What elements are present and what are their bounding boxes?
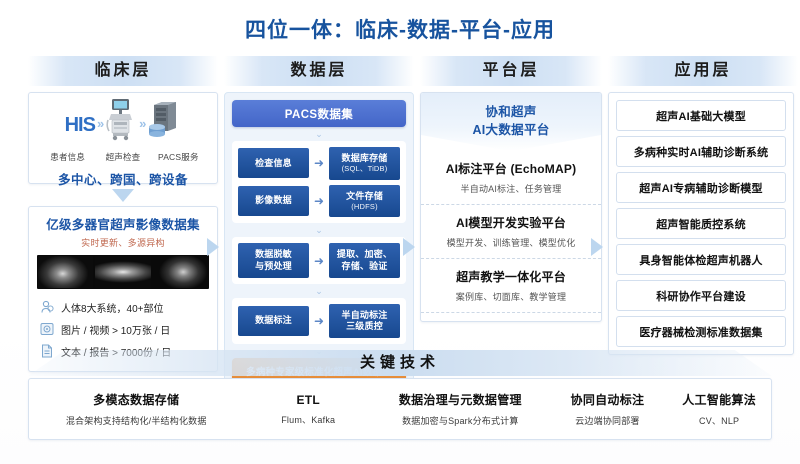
column-header-application: 应用层: [608, 56, 798, 86]
key-tech-title: ETL: [247, 393, 369, 407]
app-item-robot[interactable]: 具身智能体检超声机器人: [616, 244, 786, 275]
platform-header-line2: AI大数据平台: [425, 121, 597, 139]
platform-item-sub: 模型开发、训练管理、模型优化: [425, 236, 597, 249]
key-tech-card: 多模态数据存储 混合架构支持结构化/半结构化数据 ETL Flum、Kafka …: [28, 378, 772, 440]
arrow-data-to-platform-icon: [403, 238, 415, 256]
column-header-platform: 平台层: [420, 56, 602, 86]
app-item-quality-control[interactable]: 超声智能质控系统: [616, 208, 786, 239]
key-tech-title: 人工智能算法: [671, 391, 767, 408]
pacs-server-icon: [145, 99, 181, 146]
column-headers: 临床层 数据层 平台层 应用层: [28, 56, 772, 86]
chevron-right-icon-2: »: [139, 102, 143, 146]
platform-header-line1: 协和超声: [425, 103, 597, 121]
app-item-foundation-model[interactable]: 超声AI基础大模型: [616, 100, 786, 131]
key-tech-item-governance: 数据治理与元数据管理 数据加密与Spark分布式计算: [373, 391, 548, 427]
dataset-stat-row: 人体8大系统，40+部位: [37, 296, 209, 318]
chevron-down-icon: ⌄: [232, 284, 406, 298]
data-pair-row: 数据脱敏与预处理 ➜ 提取、加密、存储、验证: [238, 243, 400, 278]
data-pair-row: 影像数据 ➜ 文件存储 (HDFS): [238, 185, 400, 218]
clinical-flow: HIS »: [37, 102, 209, 146]
platform-item-title: 超声教学一体化平台: [425, 268, 597, 285]
page-title: 四位一体：临床-数据-平台-应用: [0, 14, 800, 44]
key-tech-sub: 云边端协同部署: [552, 414, 664, 427]
arrow-right-icon: ➜: [314, 195, 324, 207]
his-logo: HIS: [65, 104, 95, 146]
key-tech-item-annotation: 协同自动标注 云边端协同部署: [548, 391, 668, 427]
platform-card: 协和超声 AI大数据平台 AI标注平台 (EchoMAP) 半自动AI标注、任务…: [420, 92, 602, 322]
pacs-dataset-header: PACS数据集: [232, 100, 406, 127]
infographic-page: 四位一体：临床-数据-平台-应用 临床层 数据层 平台层 应用层 HIS »: [0, 0, 800, 464]
flow-label-exam: 超声检查: [95, 151, 150, 163]
column-header-data: 数据层: [224, 56, 414, 86]
key-tech-item-storage: 多模态数据存储 混合架构支持结构化/半结构化数据: [29, 391, 243, 427]
ultrasound-image-3: [153, 256, 208, 288]
person-icon: [39, 300, 54, 315]
key-tech-title: 数据治理与元数据管理: [377, 391, 544, 408]
ultrasound-image-1: [38, 256, 93, 288]
chevron-right-icon: »: [97, 102, 101, 146]
document-icon: [39, 344, 54, 359]
data-pair-row: 检查信息 ➜ 数据库存储 (SQL、TiDB): [238, 147, 400, 180]
app-item-specialty-diagnosis[interactable]: 超声AI专病辅助诊断模型: [616, 172, 786, 203]
platform-item-sub: 案例库、切面库、教学管理: [425, 290, 597, 303]
ultrasound-image-2: [95, 256, 150, 288]
box-file-storage: 文件存储 (HDFS): [329, 185, 400, 218]
key-tech-banner: 关键技术: [28, 350, 772, 376]
chevron-down-icon: ⌄: [232, 223, 406, 237]
box-data-annotation: 数据标注: [238, 306, 309, 336]
data-group-annotation: 数据标注 ➜ 半自动标注三级质控: [232, 298, 406, 345]
key-tech-title: 协同自动标注: [552, 391, 664, 408]
platform-item-sub: 半自动AI标注、任务管理: [425, 182, 597, 195]
application-card: 超声AI基础大模型 多病种实时AI辅助诊断系统 超声AI专病辅助诊断模型 超声智…: [608, 92, 794, 355]
box-database-storage: 数据库存储 (SQL、TiDB): [329, 147, 400, 180]
column-header-clinical: 临床层: [28, 56, 218, 86]
clinical-column: HIS »: [28, 92, 218, 372]
clinical-highlight: 多中心、跨国、跨设备: [37, 163, 209, 188]
flow-label-patient: 患者信息: [40, 151, 95, 163]
box-extract-encrypt: 提取、加密、存储、验证: [329, 243, 400, 278]
data-group-preprocess: 数据脱敏与预处理 ➜ 提取、加密、存储、验证: [232, 237, 406, 284]
box-desensitization: 数据脱敏与预处理: [238, 243, 309, 278]
arrow-right-icon: ➜: [314, 157, 324, 169]
key-tech-sub: 数据加密与Spark分布式计算: [377, 414, 544, 427]
application-column: 超声AI基础大模型 多病种实时AI辅助诊断系统 超声AI专病辅助诊断模型 超声智…: [608, 92, 794, 355]
platform-item-model-dev[interactable]: AI模型开发实验平台 模型开发、训练管理、模型优化: [421, 205, 601, 259]
chevron-down-icon: ⌄: [232, 127, 406, 141]
clinical-flow-labels: 患者信息 超声检查 PACS服务: [37, 146, 209, 163]
platform-item-title: AI标注平台 (EchoMAP): [425, 160, 597, 177]
stat-text-systems: 人体8大系统，40+部位: [61, 300, 164, 315]
data-column: PACS数据集 ⌄ 检查信息 ➜ 数据库存储 (SQL、TiDB) 影像数据: [224, 92, 414, 393]
app-item-realtime-diagnosis[interactable]: 多病种实时AI辅助诊断系统: [616, 136, 786, 167]
key-tech-sub: CV、NLP: [671, 414, 767, 427]
box-image-data: 影像数据: [238, 186, 309, 216]
key-tech-item-ai-algorithm: 人工智能算法 CV、NLP: [667, 391, 771, 427]
ultrasound-machine-icon: [103, 97, 137, 146]
platform-header: 协和超声 AI大数据平台: [421, 93, 601, 151]
ultrasound-image-strip: [37, 255, 209, 289]
key-tech-title: 多模态数据存储: [33, 391, 239, 408]
platform-item-echomap[interactable]: AI标注平台 (EchoMAP) 半自动AI标注、任务管理: [421, 151, 601, 205]
stat-text-images: 图片 / 视频 > 10万张 / 日: [61, 322, 170, 337]
key-tech-sub: Flum、Kafka: [247, 413, 369, 426]
arrow-right-icon: ➜: [314, 315, 324, 327]
platform-item-teaching[interactable]: 超声教学一体化平台 案例库、切面库、教学管理: [421, 259, 601, 313]
data-pair-row: 数据标注 ➜ 半自动标注三级质控: [238, 304, 400, 339]
flow-label-pacs: PACS服务: [151, 151, 206, 163]
arrow-right-icon: ➜: [314, 255, 324, 267]
box-semi-auto-annotation: 半自动标注三级质控: [329, 304, 400, 339]
key-tech-item-etl: ETL Flum、Kafka: [243, 393, 373, 426]
app-item-research-platform[interactable]: 科研协作平台建设: [616, 280, 786, 311]
dataset-stat-row: 图片 / 视频 > 10万张 / 日: [37, 318, 209, 340]
arrow-platform-to-application-icon: [591, 238, 603, 256]
platform-item-title: AI模型开发实验平台: [425, 214, 597, 231]
platform-column: 协和超声 AI大数据平台 AI标注平台 (EchoMAP) 半自动AI标注、任务…: [420, 92, 602, 322]
dataset-subtitle: 实时更新、多源异构: [37, 236, 209, 249]
data-panel: PACS数据集 ⌄ 检查信息 ➜ 数据库存储 (SQL、TiDB) 影像数据: [224, 92, 414, 393]
arrow-clinical-to-data-icon: [207, 238, 219, 256]
dataset-title: 亿级多器官超声影像数据集: [37, 214, 209, 233]
dataset-card: 亿级多器官超声影像数据集 实时更新、多源异构 人体8大系统，40+部位 图片 /…: [28, 206, 218, 372]
key-tech-sub: 混合架构支持结构化/半结构化数据: [33, 414, 239, 427]
image-icon: [39, 322, 54, 337]
data-group-storage: 检查信息 ➜ 数据库存储 (SQL、TiDB) 影像数据 ➜ 文件存储: [232, 141, 406, 223]
box-exam-info: 检查信息: [238, 148, 309, 178]
clinical-source-card: HIS »: [28, 92, 218, 184]
app-item-device-testing-dataset[interactable]: 医疗器械检测标准数据集: [616, 316, 786, 347]
